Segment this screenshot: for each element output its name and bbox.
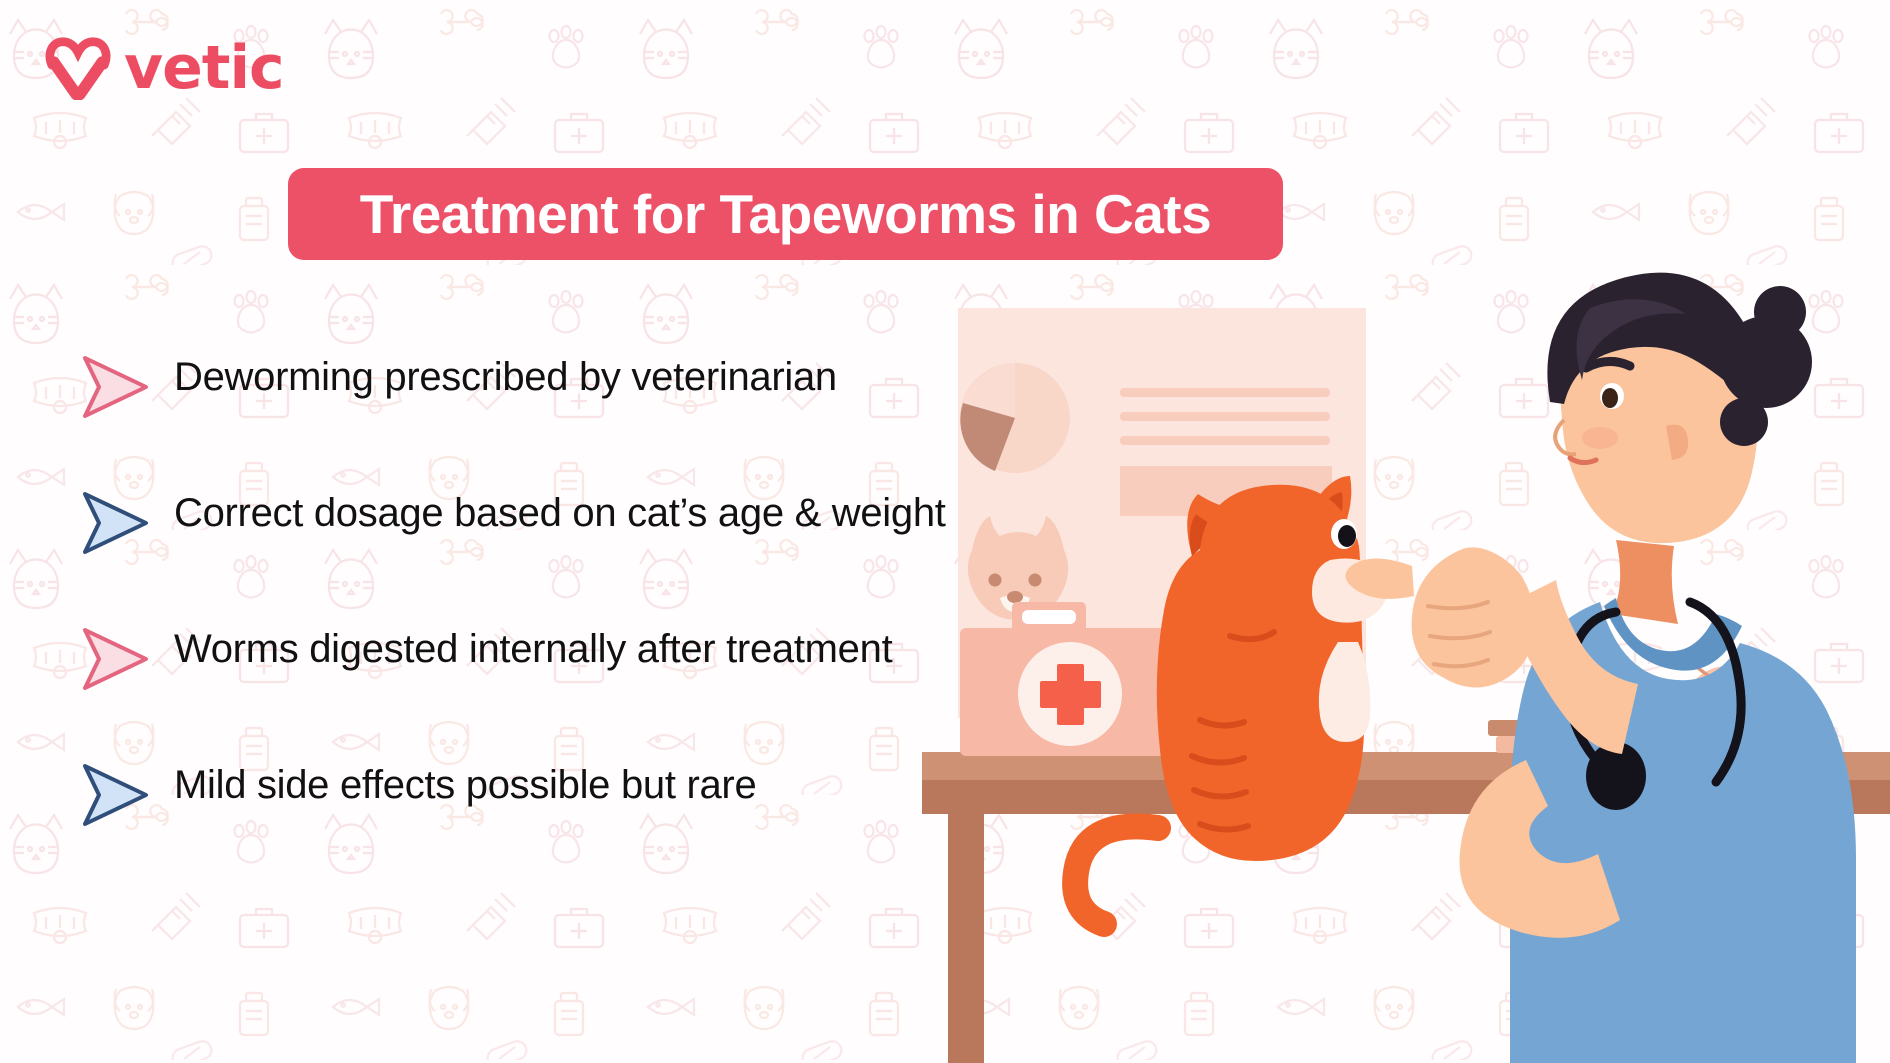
- vet-clinic-illustration: [900, 250, 1890, 1063]
- heart-v-logo-icon: [44, 36, 112, 100]
- poster-text-lines: [1120, 388, 1330, 445]
- list-item-label: Deworming prescribed by veterinarian: [174, 352, 837, 401]
- list-item: Correct dosage based on cat’s age & weig…: [80, 488, 980, 572]
- vet-character: [1345, 273, 1856, 1063]
- brand-logo[interactable]: vetic: [44, 36, 284, 100]
- bullet-list: Deworming prescribed by veterinarian Cor…: [80, 352, 980, 844]
- list-item: Mild side effects possible but rare: [80, 760, 980, 844]
- blue-arrow-bullet-icon: [80, 490, 152, 556]
- list-item: Worms digested internally after treatmen…: [80, 624, 980, 708]
- pink-arrow-bullet-icon: [80, 626, 152, 692]
- brand-wordmark: vetic: [124, 38, 284, 98]
- pink-arrow-bullet-icon: [80, 354, 152, 420]
- list-item-label: Mild side effects possible but rare: [174, 760, 756, 809]
- list-item-label: Correct dosage based on cat’s age & weig…: [174, 488, 946, 537]
- list-item-label: Worms digested internally after treatmen…: [174, 624, 892, 673]
- page-title: Treatment for Tapeworms in Cats: [360, 182, 1211, 246]
- title-banner: Treatment for Tapeworms in Cats: [288, 168, 1283, 260]
- list-item: Deworming prescribed by veterinarian: [80, 352, 980, 436]
- blue-arrow-bullet-icon: [80, 762, 152, 828]
